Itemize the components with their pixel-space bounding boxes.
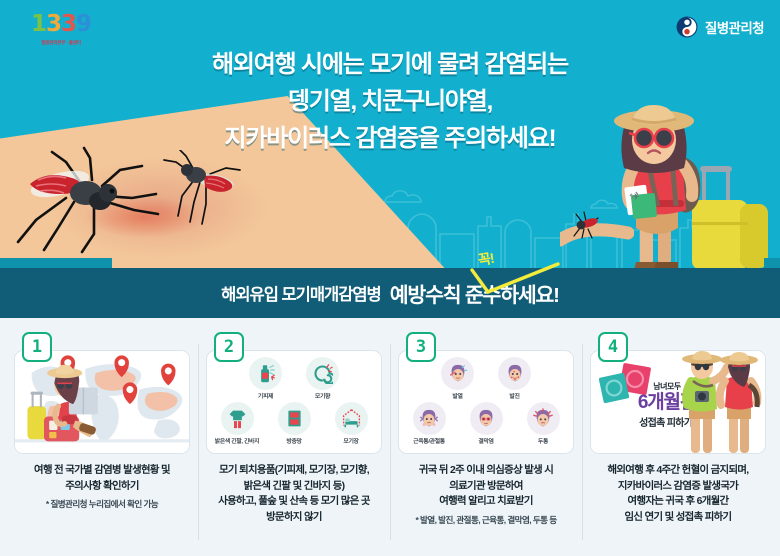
headline-line-3: 지카바이러스 감염증을 주의하세요! [130,120,650,157]
logo-digit-1: 1 [31,11,46,37]
taegeuk-icon [676,16,698,38]
prevention-label-coil: 모기향 [299,391,347,400]
step-badge-4: 4 [598,332,628,362]
kdca-logo: 질병관리청 [676,16,764,38]
step-caption-2-line-2: 밝은색 긴팔 및 긴바지 등) [206,479,382,495]
slogan-banner: 해외유입 모기매개감염병 예방수칙 준수하세요! [0,268,780,318]
step-caption-4-line-3: 여행자는 귀국 후 6개월간 [590,494,766,510]
page-title: 해외여행 시에는 모기에 물려 감염되는 뎅기열, 치쿤구니야열, 지카바이러스… [130,46,650,157]
mosquito-large-icon [8,146,178,258]
poster-root: 1339 질병관리본부 · 콜센터 질병관리청 해외여행 시에는 모기에 물려 … [0,0,780,556]
step-note-1: * 질병관리청 누리집에서 확인 가능 [14,498,190,510]
fever-thermometer-icon [447,363,469,385]
prevention-item-repellent: 기피제 [242,357,290,400]
callout-badge: 꼭! [477,248,495,270]
world-map-traveler-illustration [15,351,189,453]
step-caption-4-line-2: 지카바이러스 감염증 발생국가 [590,479,766,495]
hotline-1339-logo: 1339 질병관리본부 · 콜센터 [26,9,96,53]
prevention-label-repellent: 기피제 [242,391,290,400]
step-visual-1 [14,350,190,454]
step-badge-3: 3 [406,332,436,362]
window-screen-icon [284,408,305,429]
symptom-item-rash: 발진 [491,357,539,400]
prevention-item-bednet: 모기장 [327,402,375,445]
symptom-label-muscle-joint-pain: 근육통/관절통 [405,436,453,445]
step-card-3: 3 [390,328,582,556]
symptom-label-fever: 발열 [434,391,482,400]
steps-section: 1 [0,318,780,556]
step-caption-4: 해외여행 후 4주간 헌혈이 금지되며, 지카바이러스 감염증 발생국가 여행자… [590,463,766,525]
step-caption-2-line-4: 방문하지 않기 [206,510,382,526]
mosquito-coil-icon [312,363,333,384]
symptom-label-headache: 두통 [519,436,567,445]
step-visual-2: 기피제 모기향 [206,350,382,454]
step-card-1: 1 [6,328,198,556]
headline-line-1: 해외여행 시에는 모기에 물려 감염되는 [130,46,650,83]
rash-face-icon [504,363,526,385]
mosquito-small-icon [160,150,250,234]
step-caption-3: 귀국 뒤 2주 이내 의심증상 발생 시 의료기관 방문하여 여행력 알리고 치… [398,463,574,510]
step-note-3: * 발열, 발진, 관절통, 근육통, 결막염, 두통 등 [398,514,574,526]
prevention-label-bednet: 모기장 [327,436,375,445]
step-caption-1: 여행 전 국가별 감염병 발생현황 및 주의사항 확인하기 [14,463,190,494]
step-caption-4-line-4: 임신 연기 및 성접촉 피하기 [590,510,766,526]
muscle-joint-pain-icon [418,408,440,430]
hero-section: 1339 질병관리본부 · 콜센터 질병관리청 해외여행 시에는 모기에 물려 … [0,0,780,268]
step-visual-3: 발열 [398,350,574,454]
logo-digit-4: 9 [76,11,91,37]
step-visual-4: 남녀모두 6개월간 성접촉 피하기! [590,350,766,454]
headline-line-2: 뎅기열, 치쿤구니야열, [130,83,650,120]
symptom-item-conjunctivitis: 결막염 [462,402,510,445]
prevention-item-clothing: 밝은색 긴팔, 긴바지 [213,402,261,445]
step-caption-1-line-1: 여행 전 국가별 감염병 발생현황 및 [14,463,190,479]
symptom-item-muscle-joint-pain: 근육통/관절통 [405,402,453,445]
logo-digit-2: 3 [46,11,61,37]
logo-digit-3: 3 [61,11,76,37]
step-caption-2-line-1: 모기 퇴치용품(기피제, 모기장, 모기향, [206,463,382,479]
svg-text:✈: ✈ [632,193,640,203]
step-card-2: 2 [198,328,390,556]
slogan-normal-text: 해외유입 모기매개감염병 [221,281,381,305]
prevention-item-coil: 모기향 [299,357,347,400]
step-caption-3-line-2: 의료기관 방문하여 [398,479,574,495]
outstretched-arm-with-mosquito [560,210,634,252]
bed-net-icon [341,408,362,429]
conjunctivitis-icon [475,408,497,430]
step-caption-2: 모기 퇴치용품(기피제, 모기장, 모기향, 밝은색 긴팔 및 긴바지 등) 사… [206,463,382,525]
long-sleeve-clothing-icon [227,408,248,429]
step-card-4: 4 남녀모두 6개월간 성접촉 피하기! [582,328,774,556]
step-badge-2: 2 [214,332,244,362]
step-caption-2-line-3: 사용하고, 풀숲 및 산속 등 모기 많은 곳 [206,494,382,510]
headache-icon [532,408,554,430]
step-caption-3-line-3: 여행력 알리고 치료받기 [398,494,574,510]
kdca-name-label: 질병관리청 [705,17,764,37]
couple-illustration [679,351,763,454]
symptom-label-conjunctivitis: 결막염 [462,436,510,445]
step-caption-3-line-1: 귀국 뒤 2주 이내 의심증상 발생 시 [398,463,574,479]
step-caption-4-line-1: 해외여행 후 4주간 헌혈이 금지되며, [590,463,766,479]
symptom-item-fever: 발열 [434,357,482,400]
prevention-label-screen: 방충망 [270,436,318,445]
symptom-item-headache: 두통 [519,402,567,445]
symptom-label-rash: 발진 [491,391,539,400]
step-caption-1-line-2: 주의사항 확인하기 [14,479,190,495]
prevention-label-clothing: 밝은색 긴팔, 긴바지 [213,436,261,445]
spray-repellent-icon [255,363,276,384]
prevention-item-screen: 방충망 [270,402,318,445]
step-badge-1: 1 [22,332,52,362]
hotline-logo-subtitle: 질병관리본부 · 콜센터 [26,39,96,47]
